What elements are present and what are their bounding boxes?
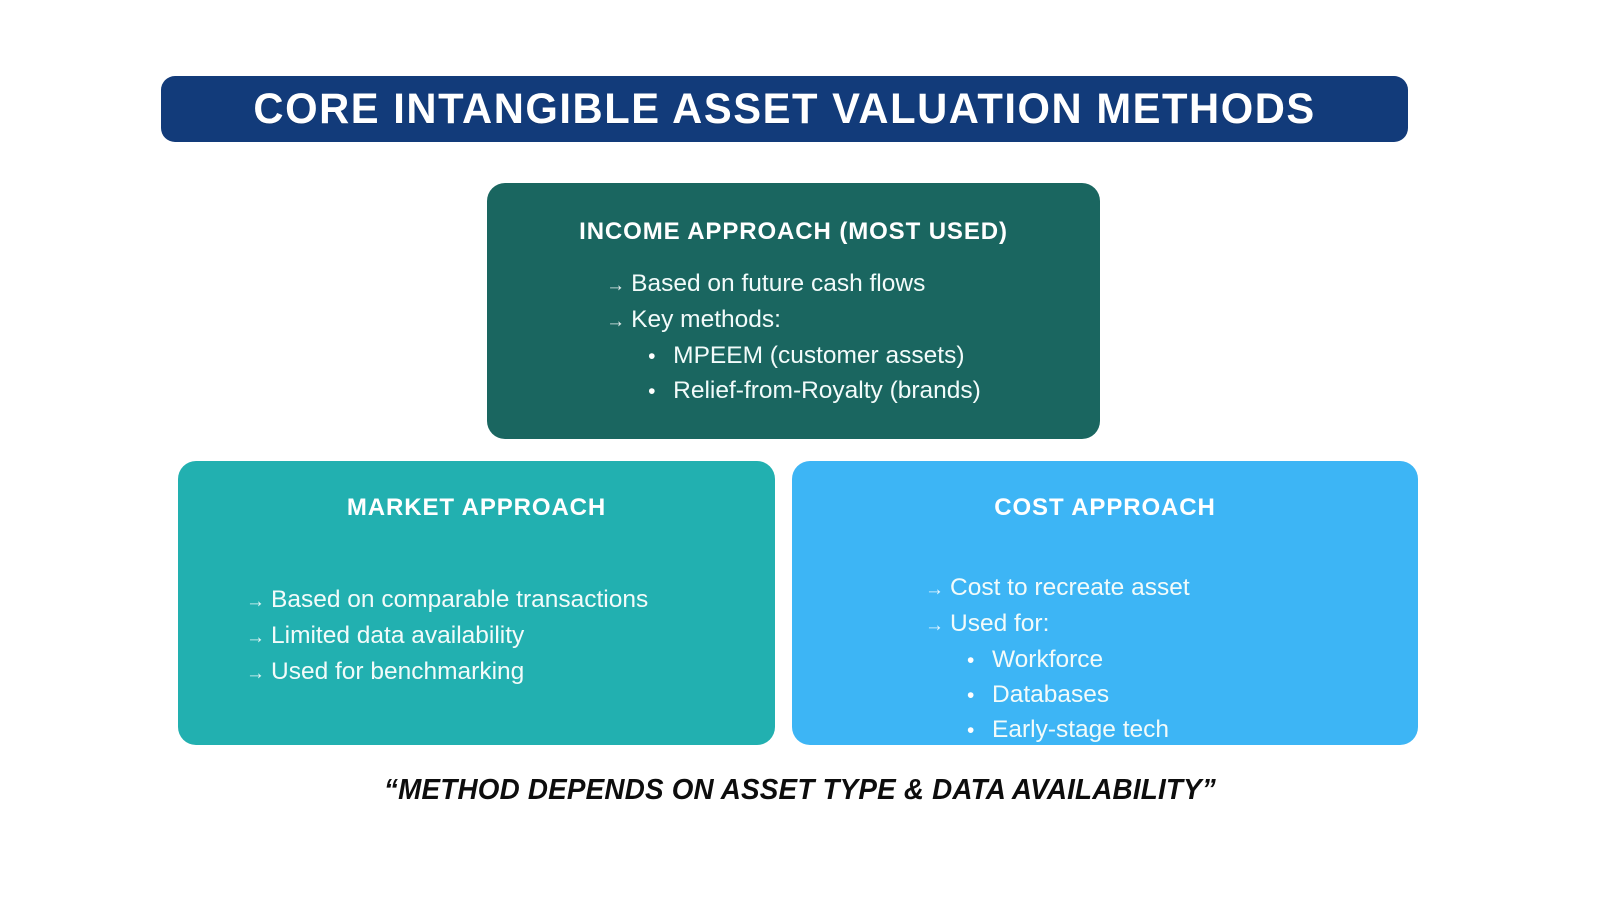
arrow-right-icon: → xyxy=(606,269,631,303)
list-item: → Used for benchmarking xyxy=(246,655,648,691)
list-item: → Used for: xyxy=(925,607,1190,643)
list-item-label: Workforce xyxy=(992,643,1103,677)
list-item: • Databases xyxy=(925,678,1190,713)
footer-caption: “METHOD DEPENDS ON ASSET TYPE & DATA AVA… xyxy=(32,774,1568,807)
card-heading-cost-approach: COST APPROACH xyxy=(792,494,1418,522)
infographic-canvas: CORE INTANGIBLE ASSET VALUATION METHODS … xyxy=(0,0,1600,900)
list-item-label: Limited data availability xyxy=(271,619,524,653)
arrow-right-icon: → xyxy=(246,585,271,619)
list-item-label: Used for: xyxy=(950,607,1049,641)
arrow-right-icon: → xyxy=(925,573,950,607)
card-body-cost-approach: → Cost to recreate asset → Used for: • W… xyxy=(925,571,1190,745)
list-item-label: MPEEM (customer assets) xyxy=(673,339,964,373)
bullet-dot-icon: • xyxy=(967,679,992,713)
list-item: • MPEEM (customer assets) xyxy=(606,339,981,374)
list-item-label: Relief-from-Royalty (brands) xyxy=(673,374,981,408)
bullet-dot-icon: • xyxy=(648,375,673,409)
arrow-right-icon: → xyxy=(925,609,950,643)
bullet-dot-icon: • xyxy=(967,644,992,678)
card-heading-income-approach: INCOME APPROACH (MOST USED) xyxy=(487,218,1100,246)
card-heading-market-approach: MARKET APPROACH xyxy=(178,494,775,522)
list-item-label: Databases xyxy=(992,678,1109,712)
bullet-dot-icon: • xyxy=(967,714,992,745)
list-item: → Cost to recreate asset xyxy=(925,571,1190,607)
list-item-label: Early-stage tech xyxy=(992,713,1169,745)
list-item: → Based on comparable transactions xyxy=(246,583,648,619)
page-title: CORE INTANGIBLE ASSET VALUATION METHODS xyxy=(253,88,1315,131)
card-income-approach: INCOME APPROACH (MOST USED) → Based on f… xyxy=(487,183,1100,439)
card-body-income-approach: → Based on future cash flows → Key metho… xyxy=(487,267,1100,409)
list-item-label: Based on comparable transactions xyxy=(271,583,648,617)
list-item: → Limited data availability xyxy=(246,619,648,655)
list-item: → Based on future cash flows xyxy=(606,267,981,303)
card-body-market-approach: → Based on comparable transactions → Lim… xyxy=(246,583,648,691)
arrow-right-icon: → xyxy=(606,305,631,339)
bullet-dot-icon: • xyxy=(648,340,673,374)
list-item-label: Based on future cash flows xyxy=(631,267,925,301)
title-banner: CORE INTANGIBLE ASSET VALUATION METHODS xyxy=(161,76,1408,142)
list-item: → Key methods: xyxy=(606,303,981,339)
list-item-label: Cost to recreate asset xyxy=(950,571,1190,605)
card-cost-approach: COST APPROACH → Cost to recreate asset →… xyxy=(792,461,1418,745)
list-item: • Early-stage tech xyxy=(925,713,1190,745)
arrow-right-icon: → xyxy=(246,621,271,655)
list-item: • Workforce xyxy=(925,643,1190,678)
arrow-right-icon: → xyxy=(246,657,271,691)
list-item: • Relief-from-Royalty (brands) xyxy=(606,374,981,409)
card-market-approach: MARKET APPROACH → Based on comparable tr… xyxy=(178,461,775,745)
list-item-label: Used for benchmarking xyxy=(271,655,524,689)
list-item-label: Key methods: xyxy=(631,303,781,337)
